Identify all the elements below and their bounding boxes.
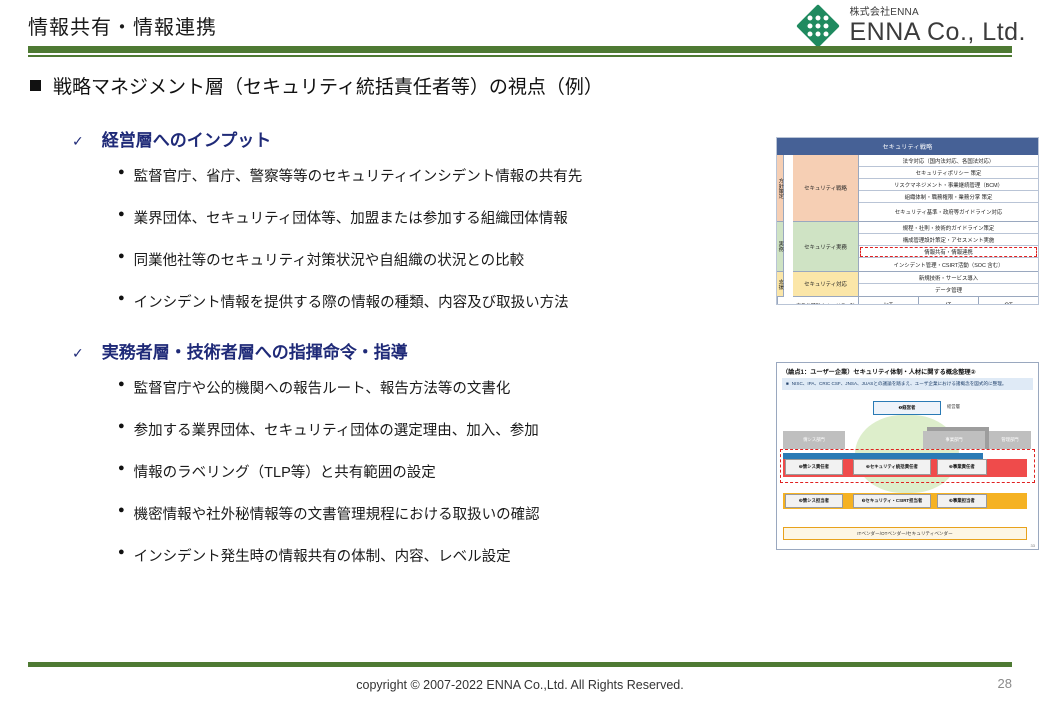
list-item-text: 監督官庁、省庁、警察等等のセキュリティインシデント情報の共有先 [134, 165, 583, 186]
figure-diagram-note: ■ NISC、IPA、CRIC CSF、JNSA、JUASとの議論を踏まえ、ユー… [782, 378, 1033, 390]
table-row: セキュリティポリシー 策定 [859, 167, 1038, 179]
table-cell: IoT [859, 297, 919, 305]
table-category: 事業分野別 セキュリティ対策 [793, 297, 859, 305]
table-row: 規程・社則・技術的ガイドライン策定 [859, 222, 1038, 234]
check-icon: ✓ [72, 133, 84, 150]
list-item-text: 参加する業界団体、セキュリティ団体の選定理由、加入、参加 [134, 419, 539, 440]
department-label: 管理部門 [989, 431, 1031, 449]
company-name-en: ENNA Co., Ltd. [849, 20, 1026, 45]
table-axis-label: 支援 [777, 272, 784, 297]
staff-box: ❸情シス担当者 [785, 494, 843, 508]
section-heading-label: 実務者層・技術者層への指揮命令・指導 [102, 338, 408, 363]
table-row: 構成管理設計策定・アセスメント実施 [859, 234, 1038, 246]
table-row: インシデント管理・CSIRT活動（SOC 含む） [859, 258, 1038, 272]
list-item: ● 情報のラベリング（TLP等）と共有範囲の設定 [118, 461, 540, 482]
list-item: ● 監督官庁や公的機関への報告ルート、報告方法等の文書化 [118, 377, 540, 398]
page-title: 戦略マネジメント層（セキュリティ統括責任者等）の視点（例） [30, 72, 603, 99]
section-heading: ✓ 実務者層・技術者層への指揮命令・指導 [72, 338, 540, 363]
table-cell: OT [979, 297, 1038, 305]
table-axis-label [777, 297, 778, 305]
table-split-row: IoT IT OT [859, 297, 1038, 305]
enna-diamond-icon [796, 4, 840, 48]
department-label: 情シス部門 [783, 431, 845, 449]
round-bullet-icon: ● [118, 207, 125, 223]
slide-title: 情報共有・情報連携 [28, 11, 217, 40]
list-item: ● インシデント情報を提供する際の情報の種類、内容及び取扱い方法 [118, 291, 582, 312]
list-item-text: インシデント情報を提供する際の情報の種類、内容及び取扱い方法 [134, 291, 569, 312]
round-bullet-icon: ● [118, 291, 125, 307]
page-number: 28 [998, 676, 1012, 691]
list-item-text: 監督官庁や公的機関への報告ルート、報告方法等の文書化 [134, 377, 511, 398]
diagram-canvas: セキュリティ統括機能 ❶経営者 経営層 情シス部門 事業部門 管理部門 ❷情シス… [777, 399, 1038, 549]
list-item: ● 業界団体、セキュリティ団体等、加盟または参加する組織団体情報 [118, 207, 582, 228]
list-item: ● 監督官庁、省庁、警察等等のセキュリティインシデント情報の共有先 [118, 165, 582, 186]
table-category: セキュリティ戦略 [793, 155, 859, 222]
department-label: 事業部門 [923, 431, 985, 449]
check-icon: ✓ [72, 345, 84, 362]
table-row: セキュリティ基準・政府等ガイドライン対応 [859, 203, 1038, 222]
table-row: 組織体制・職務権限・業務分掌 策定 [859, 191, 1038, 203]
executive-side-label: 経営層 [947, 404, 960, 410]
list-item-text: 同業他社等のセキュリティ対策状況や自組織の状況との比較 [134, 249, 524, 270]
section-heading-label: 経営層へのインプット [102, 126, 272, 151]
list-item-text: インシデント発生時の情報共有の体制、内容、レベル設定 [134, 545, 511, 566]
list-item: ● 機密情報や社外秘情報等の文書管理規程における取扱いの確認 [118, 503, 540, 524]
table-axis-label: 実務 [777, 222, 784, 272]
list-item-text: 業界団体、セキュリティ団体等、加盟または参加する組織団体情報 [134, 207, 568, 228]
staff-box: ❸セキュリティ・CSIRT担当者 [853, 494, 931, 508]
round-bullet-icon: ● [118, 503, 125, 519]
list-item-text: 機密情報や社外秘情報等の文書管理規程における取扱いの確認 [134, 503, 540, 524]
table-category: セキュリティ対応 [793, 272, 859, 297]
diagram-highlight-box [780, 449, 1035, 483]
table-row: 新規技術・サービス導入 [859, 272, 1038, 284]
header-rule [28, 46, 1012, 53]
vendor-row: ITベンダー/OTベンダー/セキュリティベンダー [783, 527, 1027, 540]
figure-security-strategy-table: セキュリティ戦略 方針策定 実務 支援 セキュリティ戦略 セキュリティ実務 セキ… [776, 137, 1039, 305]
figure-diagram-note-text: NISC、IPA、CRIC CSF、JNSA、JUASとの議論を踏まえ、ユーザ企… [792, 381, 1007, 387]
list-item-text: 情報のラベリング（TLP等）と共有範囲の設定 [134, 461, 436, 482]
table-row: リスクマネジメント・事業継続管理（BCM） [859, 179, 1038, 191]
figure-table-title: セキュリティ戦略 [777, 138, 1038, 155]
round-bullet-icon: ● [118, 165, 125, 181]
table-axis-label: 方針策定 [777, 155, 784, 222]
bullet-list: ● 監督官庁、省庁、警察等等のセキュリティインシデント情報の共有先 ● 業界団体… [72, 165, 582, 312]
table-row: データ管理 [859, 284, 1038, 297]
executive-box: ❶経営者 [873, 401, 941, 415]
list-item: ● 同業他社等のセキュリティ対策状況や自組織の状況との比較 [118, 249, 582, 270]
page-title-text: 戦略マネジメント層（セキュリティ統括責任者等）の視点（例） [53, 72, 603, 99]
table-row-highlighted: 情報共有・情報連携 [859, 246, 1038, 258]
round-bullet-icon: ● [118, 419, 125, 435]
footer-rule [28, 662, 1012, 667]
section-operations-direction: ✓ 実務者層・技術者層への指揮命令・指導 ● 監督官庁や公的機関への報告ルート、… [72, 338, 540, 587]
square-bullet-icon [30, 80, 41, 91]
company-name-jp: 株式会社ENNA [849, 8, 1026, 18]
staff-box: ❸事業担当者 [937, 494, 987, 508]
table-cell: IT [919, 297, 979, 305]
round-bullet-icon: ● [118, 249, 125, 265]
footer-copyright: copyright © 2007-2022 ENNA Co.,Ltd. All … [0, 678, 1040, 692]
company-logo: 株式会社ENNA ENNA Co., Ltd. [796, 4, 1026, 48]
section-management-input: ✓ 経営層へのインプット ● 監督官庁、省庁、警察等等のセキュリティインシデント… [72, 126, 582, 333]
bullet-list: ● 監督官庁や公的機関への報告ルート、報告方法等の文書化 ● 参加する業界団体、… [72, 377, 540, 566]
table-category: セキュリティ実務 [793, 222, 859, 272]
round-bullet-icon: ● [118, 545, 125, 561]
table-row: 法令対応（国内法対応、各国法対応） [859, 155, 1038, 167]
figure-diagram-title: （論点1：ユーザー企業）セキュリティ体制・人材に関する概念整理② [777, 363, 1038, 378]
list-item: ● インシデント発生時の情報共有の体制、内容、レベル設定 [118, 545, 540, 566]
figure-org-concept-diagram: （論点1：ユーザー企業）セキュリティ体制・人材に関する概念整理② ■ NISC、… [776, 362, 1039, 550]
header-rule-thin [28, 55, 1012, 57]
round-bullet-icon: ● [118, 461, 125, 477]
round-bullet-icon: ● [118, 377, 125, 393]
round-bullet-icon: ■ [786, 381, 789, 386]
list-item: ● 参加する業界団体、セキュリティ団体の選定理由、加入、参加 [118, 419, 540, 440]
section-heading: ✓ 経営層へのインプット [72, 126, 582, 151]
diagram-page-number: 33 [1031, 543, 1035, 548]
